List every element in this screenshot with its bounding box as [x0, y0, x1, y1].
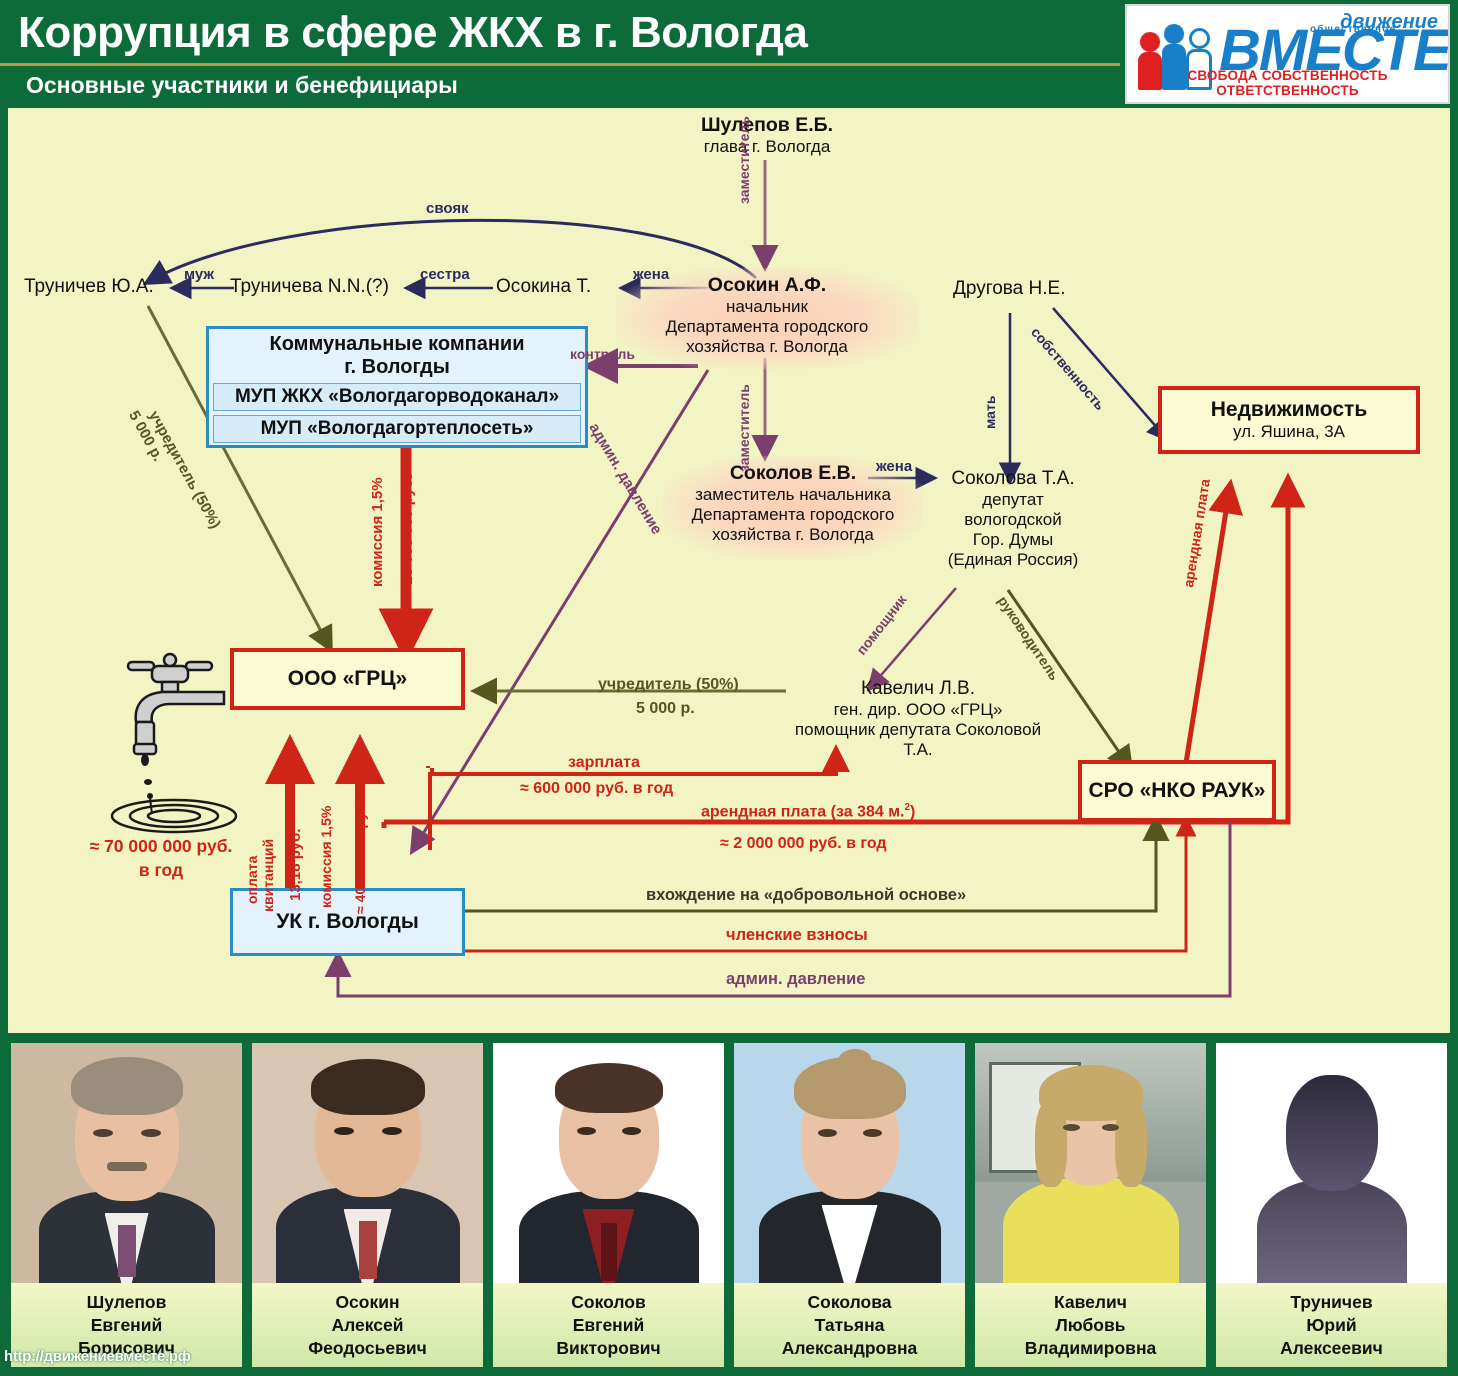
- box-communal-title-1: Коммунальные компании: [213, 333, 581, 356]
- edge-label-zhena-osokin: жена: [633, 266, 669, 283]
- photo-last-name: Соколова: [808, 1291, 892, 1314]
- photo-caption: Соколов Евгений Викторович: [493, 1283, 724, 1367]
- photo-strip: Шулепов Евгений Борисович Осокин Алексей…: [8, 1040, 1450, 1370]
- portrait-photo: [734, 1043, 965, 1283]
- edge-label-arenda-1: арендная плата (за 384 м.2): [701, 802, 915, 821]
- photo-caption: Кавелич Любовь Владимировна: [975, 1283, 1206, 1367]
- photo-patronymic: Викторович: [556, 1337, 660, 1360]
- edge-label-zamestitel-1: заместитель: [736, 116, 752, 204]
- page-subtitle: Основные участники и бенефициары: [26, 72, 458, 99]
- person-sokolova-role-4: (Единая Россия): [923, 550, 1103, 570]
- edge-label-zarplata-2: ≈ 600 000 руб. в год: [520, 780, 673, 798]
- person-trunicheva: Труничева N.N.(?): [230, 276, 389, 298]
- person-trunichev: Труничев Ю.А.: [24, 276, 154, 298]
- photo-first-name: Любовь: [1055, 1314, 1125, 1337]
- person-sokolova-role-2: вологодской: [923, 510, 1103, 530]
- portrait-photo: [975, 1043, 1206, 1283]
- faucet-annual-sum: ≈ 70 000 000 руб. в год: [46, 834, 276, 882]
- person-drugova: Другова Н.Е.: [953, 278, 1065, 300]
- box-grc[interactable]: ООО «ГРЦ»: [230, 648, 465, 710]
- faucet-icon: [100, 648, 250, 838]
- box-sro-title: СРО «НКО РАУК»: [1089, 779, 1266, 803]
- edge-label-uchreditel-right-1: учредитель (50%): [598, 676, 739, 694]
- person-osokina-name: Осокина Т.: [496, 276, 591, 298]
- photo-last-name: Труничев: [1290, 1291, 1372, 1314]
- person-osokin-role-1: начальник: [624, 297, 910, 317]
- site-watermark: http://движениевместе.рф: [4, 1348, 191, 1365]
- page-title: Коррупция в сфере ЖКХ в г. Вологда: [18, 8, 807, 58]
- person-sokolova-role-3: Гор. Думы: [923, 530, 1103, 550]
- box-communal-companies[interactable]: Коммунальные компании г. Вологды МУП ЖКХ…: [206, 326, 588, 448]
- photo-last-name: Соколов: [571, 1291, 645, 1314]
- person-sokolov-role-1: заместитель начальника: [671, 485, 915, 505]
- diagram-canvas: Шулепов Е.Б. глава г. Вологда заместител…: [8, 108, 1450, 1033]
- edge-label-komissia-top-1: комиссия 1,5%: [369, 477, 386, 587]
- photo-patronymic: Феодосьевич: [308, 1337, 427, 1360]
- portrait-photo: [252, 1043, 483, 1283]
- person-kavelich-name: Кавелич Л.В.: [788, 678, 1048, 700]
- edge-label-komissia-bottom-1: комиссия 1,5%: [318, 806, 334, 908]
- logo-slogan: СВОБОДА СОБСТВЕННОСТЬ ОТВЕТСТВЕННОСТЬ: [1127, 68, 1448, 98]
- person-trunicheva-name: Труничева N.N.(?): [230, 276, 389, 298]
- person-sokolova-name: Соколова Т.А.: [923, 468, 1103, 490]
- photo-caption: Осокин Алексей Феодосьевич: [252, 1283, 483, 1367]
- photo-first-name: Алексей: [331, 1314, 403, 1337]
- portrait-photo: [11, 1043, 242, 1283]
- person-trunichev-name: Труничев Ю.А.: [24, 276, 154, 298]
- box-realty[interactable]: Недвижимость ул. Яшина, 3А: [1158, 386, 1420, 454]
- organization-logo: ВМЕСТЕ общественное движение СВОБОДА СОБ…: [1125, 4, 1450, 104]
- photo-patronymic: Владимировна: [1025, 1337, 1157, 1360]
- edge-label-mat: мать: [982, 396, 998, 429]
- edge-label-zamestitel-2: заместитель: [736, 384, 752, 472]
- person-kavelich-role-2: помощник депутата Соколовой Т.А.: [788, 720, 1048, 760]
- photo-card: Труничев Юрий Алексеевич: [1213, 1040, 1450, 1370]
- photo-last-name: Осокин: [335, 1291, 399, 1314]
- edge-label-komissia-bottom-2: ≈ 40 000 000 руб.: [352, 800, 368, 914]
- person-osokina: Осокина Т.: [496, 276, 591, 298]
- header-divider: [0, 63, 1120, 66]
- box-communal-item-2: МУП «Вологдагортеплосеть»: [214, 418, 580, 440]
- box-realty-address: ул. Яшина, 3А: [1233, 422, 1345, 442]
- person-sokolova: Соколова Т.А. депутат вологодской Гор. Д…: [923, 468, 1103, 570]
- photo-card: Соколов Евгений Викторович: [490, 1040, 727, 1370]
- faucet-sum-line-2: в год: [46, 858, 276, 882]
- edge-label-zhena-sokolov: жена: [876, 458, 912, 475]
- header-bar: Коррупция в сфере ЖКХ в г. Вологда Основ…: [0, 0, 1458, 108]
- edge-label-muzh: муж: [184, 266, 214, 283]
- photo-patronymic: Алексеевич: [1280, 1337, 1383, 1360]
- person-sokolov-role-3: хозяйства г. Вологда: [671, 525, 915, 545]
- box-grc-title: ООО «ГРЦ»: [288, 667, 407, 691]
- person-osokin: Осокин А.Ф. начальник Департамента город…: [616, 268, 918, 369]
- photo-last-name: Шулепов: [87, 1291, 167, 1314]
- edge-label-chlenskie-vznosy: членские взносы: [726, 926, 868, 945]
- person-sokolov-role-2: Департамента городского: [671, 505, 915, 525]
- box-sro[interactable]: СРО «НКО РАУК»: [1078, 760, 1276, 822]
- box-realty-title: Недвижимость: [1211, 398, 1367, 422]
- photo-first-name: Евгений: [91, 1314, 163, 1337]
- photo-first-name: Юрий: [1306, 1314, 1356, 1337]
- photo-patronymic: Александровна: [782, 1337, 918, 1360]
- portrait-photo: [493, 1043, 724, 1283]
- photo-first-name: Татьяна: [815, 1314, 885, 1337]
- faucet-sum-line-1: ≈ 70 000 000 руб.: [46, 834, 276, 858]
- edge-label-svoyak: свояк: [426, 200, 469, 217]
- edge-label-sestra: сестра: [420, 266, 470, 283]
- person-osokin-role-3: хозяйства г. Вологда: [624, 337, 910, 357]
- person-shulepov-role: глава г. Вологда: [622, 137, 912, 157]
- photo-card: Кавелич Любовь Владимировна: [972, 1040, 1209, 1370]
- photo-caption: Труничев Юрий Алексеевич: [1216, 1283, 1447, 1367]
- edge-label-komissia-top-2: ≈ 28 000 000 руб.: [399, 475, 416, 597]
- person-shulepov: Шулепов Е.Б. глава г. Вологда: [622, 114, 912, 157]
- person-sokolova-role-1: депутат: [923, 490, 1103, 510]
- edge-label-arenda-close: ): [910, 803, 915, 820]
- logo-movement-label: движение: [1340, 11, 1438, 34]
- photo-card: Соколова Татьяна Александровна: [731, 1040, 968, 1370]
- box-communal-item-1: МУП ЖКХ «Вологдагорводоканал»: [214, 386, 580, 408]
- photo-card: Осокин Алексей Феодосьевич: [249, 1040, 486, 1370]
- edge-label-oplata-sum: 13,18 руб.: [287, 829, 304, 901]
- edge-label-vhozhdenie: вхождение на «добровольной основе»: [646, 886, 966, 905]
- edge-label-kontrol: контроль: [570, 346, 635, 362]
- edge-label-arenda-text: арендная плата (за 384 м.: [701, 803, 904, 820]
- box-uk-title: УК г. Вологды: [276, 910, 419, 934]
- portrait-photo-silhouette: [1216, 1043, 1447, 1283]
- edge-label-arenda-2: ≈ 2 000 000 руб. в год: [720, 835, 887, 853]
- photo-first-name: Евгений: [573, 1314, 645, 1337]
- person-kavelich-role-1: ген. дир. ООО «ГРЦ»: [788, 700, 1048, 720]
- photo-card: Шулепов Евгений Борисович: [8, 1040, 245, 1370]
- person-shulepov-name: Шулепов Е.Б.: [622, 114, 912, 137]
- person-drugova-name: Другова Н.Е.: [953, 278, 1065, 300]
- photo-last-name: Кавелич: [1054, 1291, 1127, 1314]
- person-osokin-role-2: Департамента городского: [624, 317, 910, 337]
- box-communal-title-2: г. Вологды: [213, 356, 581, 379]
- person-kavelich: Кавелич Л.В. ген. дир. ООО «ГРЦ» помощни…: [788, 678, 1048, 760]
- edge-label-uchreditel-right-2: 5 000 р.: [636, 700, 695, 718]
- edge-label-zarplata-1: зарплата: [568, 754, 640, 772]
- edge-label-admin-davlenie: админ. давление: [726, 970, 865, 989]
- infographic-page: Коррупция в сфере ЖКХ в г. Вологда Основ…: [0, 0, 1458, 1376]
- photo-caption: Соколова Татьяна Александровна: [734, 1283, 965, 1367]
